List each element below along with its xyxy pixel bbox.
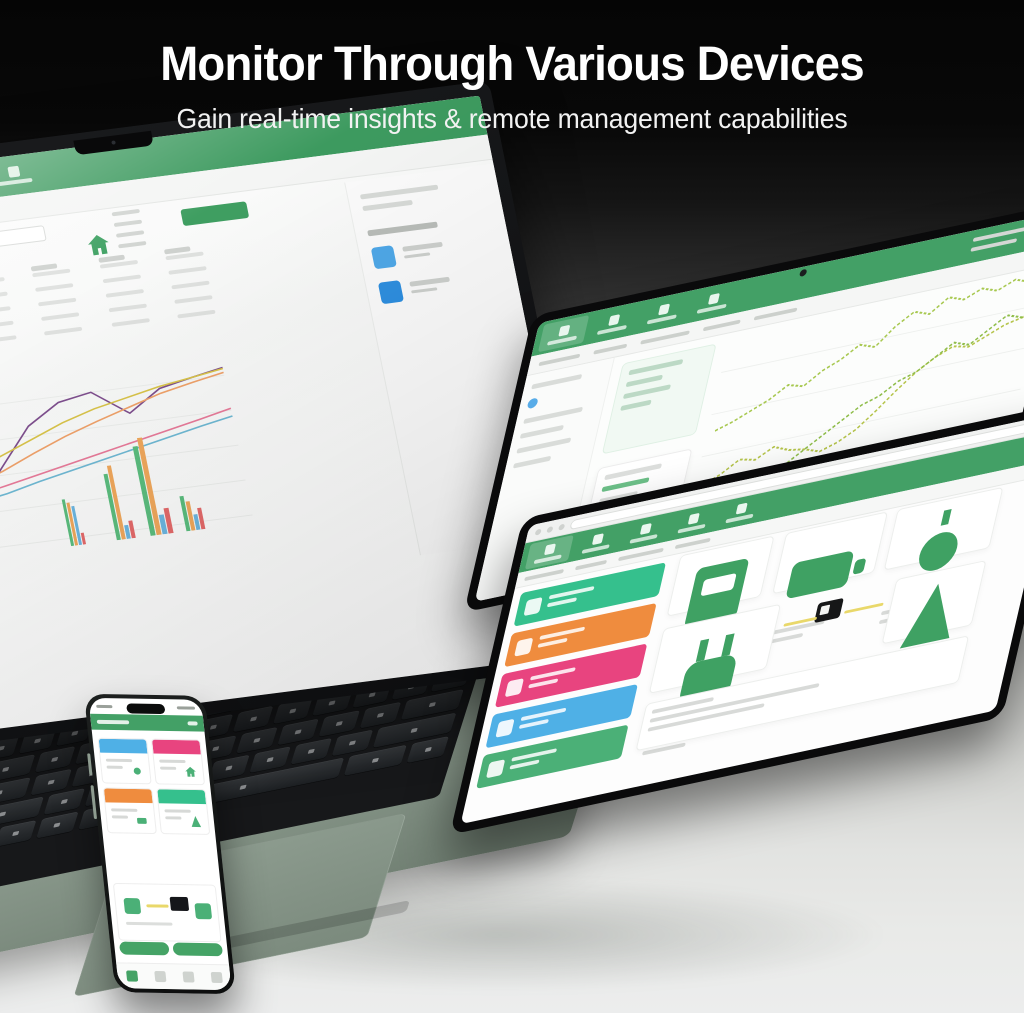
subnav-item[interactable] <box>575 559 607 570</box>
tab-user-icon[interactable] <box>210 972 222 983</box>
tab-home-icon[interactable] <box>126 970 138 981</box>
tablet-back-card-summary <box>602 343 717 454</box>
kpi-text <box>527 667 576 692</box>
kpi-text <box>546 586 595 611</box>
grid-icon <box>558 324 570 336</box>
app-title <box>97 720 130 725</box>
phone-app-header[interactable] <box>90 714 204 732</box>
meta-line <box>116 230 145 237</box>
details-button[interactable] <box>119 942 170 956</box>
sun-icon <box>514 638 533 657</box>
tab-bell-icon[interactable] <box>182 971 194 982</box>
nav-label <box>647 314 677 324</box>
data-column <box>98 252 158 337</box>
cell <box>174 295 212 304</box>
data-column <box>31 261 91 346</box>
page-title: Monitor Through Various Devices <box>26 40 999 91</box>
list-icon <box>658 303 670 315</box>
home-icon <box>83 231 114 260</box>
chart-icon <box>640 523 652 535</box>
kpi-text <box>537 627 586 652</box>
cell <box>103 275 141 284</box>
panel-header <box>360 179 488 211</box>
grid-icon <box>188 815 204 829</box>
tile-label <box>106 759 133 762</box>
tile-value <box>165 816 181 819</box>
phone-tile-generation[interactable] <box>98 738 152 785</box>
subnav-item[interactable] <box>675 537 711 548</box>
kpi-text <box>518 708 567 733</box>
cell <box>35 283 73 292</box>
nav-label <box>582 544 610 554</box>
subnav-item[interactable] <box>593 343 627 354</box>
payment-row[interactable] <box>378 267 507 304</box>
text-line <box>626 375 664 388</box>
tile-value <box>107 766 123 769</box>
home-icon <box>183 765 199 779</box>
payment-value <box>409 277 452 298</box>
cell <box>0 306 11 315</box>
text-line <box>126 922 173 926</box>
cell <box>109 304 147 313</box>
hero-text-block: Monitor Through Various Devices Gain rea… <box>0 0 1024 135</box>
battery-icon <box>135 814 151 828</box>
status-time <box>96 704 112 707</box>
forward-icon[interactable] <box>546 526 553 533</box>
panel-title <box>367 222 438 237</box>
cell <box>111 318 149 327</box>
cell <box>0 321 14 330</box>
meta-line <box>118 241 147 248</box>
subnav-item[interactable] <box>539 353 581 366</box>
text-line <box>604 463 662 480</box>
nav-label <box>630 533 658 543</box>
sidebar-item[interactable] <box>513 456 551 469</box>
wallet-icon <box>378 280 404 304</box>
subnav-item[interactable] <box>754 307 798 320</box>
nav-label <box>725 513 753 523</box>
data-column <box>164 244 224 329</box>
text-line <box>360 185 438 200</box>
sidebar-item[interactable] <box>516 437 571 453</box>
alert-icon <box>505 678 524 697</box>
cell <box>41 312 79 321</box>
subnav-item[interactable] <box>640 330 690 344</box>
text-line <box>362 200 413 211</box>
phone-tile-battery[interactable] <box>103 787 157 834</box>
search-input[interactable] <box>0 225 47 250</box>
nav-label <box>677 523 705 533</box>
status-dot-icon <box>527 397 539 409</box>
data-column <box>0 269 25 354</box>
tile-label <box>164 809 191 812</box>
cell <box>177 310 215 319</box>
phone-action-buttons <box>119 942 223 957</box>
inverter-icon <box>123 898 141 914</box>
tile-label <box>111 808 138 811</box>
dynamic-island-icon <box>126 703 165 714</box>
sidebar-item[interactable] <box>523 407 583 424</box>
phone-tab-bar[interactable] <box>116 962 232 990</box>
cell <box>106 289 144 298</box>
cell <box>171 281 209 290</box>
tile-band <box>152 740 201 755</box>
phone-tile-consumption[interactable] <box>151 739 205 786</box>
cell <box>38 298 76 307</box>
tab-chart-icon[interactable] <box>154 971 166 982</box>
menu-icon[interactable] <box>187 721 197 725</box>
meta-line <box>114 220 143 227</box>
gear-icon <box>7 166 20 178</box>
nav-label <box>697 303 727 313</box>
subnav-item[interactable] <box>703 319 741 331</box>
text-line <box>628 359 683 375</box>
nav-label <box>0 178 33 186</box>
tile-label <box>159 760 186 763</box>
meta-line <box>111 209 140 216</box>
subnav-item[interactable] <box>618 547 664 561</box>
text-line-highlight <box>601 477 649 492</box>
hero-banner: Monitor Through Various Devices Gain rea… <box>0 0 1024 1013</box>
export-button[interactable] <box>180 201 249 226</box>
key-arrow-cluster[interactable] <box>407 736 449 763</box>
nav-item-settings[interactable] <box>0 155 43 195</box>
text-line <box>402 242 443 252</box>
subnav-item[interactable] <box>524 568 564 580</box>
nav-label <box>597 324 627 334</box>
text-line <box>409 277 450 287</box>
meter-icon <box>170 897 190 911</box>
sliders-icon <box>688 512 700 524</box>
gauge-icon <box>486 759 505 778</box>
text-line <box>620 400 652 411</box>
cell <box>0 277 5 286</box>
device-icon <box>495 719 514 738</box>
device-icon <box>592 533 604 545</box>
reload-icon[interactable] <box>558 523 565 530</box>
payment-row[interactable] <box>371 232 500 269</box>
tile-band <box>104 788 153 803</box>
sidebar-item[interactable] <box>531 374 582 390</box>
home-icon <box>544 543 556 555</box>
phone-tile-grid <box>98 738 211 835</box>
grid-icon <box>194 903 212 919</box>
control-button[interactable] <box>172 942 223 956</box>
phone-tile-grid[interactable] <box>156 788 210 835</box>
cell <box>44 327 82 336</box>
nav-label <box>534 554 562 564</box>
payment-value <box>402 242 445 263</box>
text-line <box>623 384 671 399</box>
back-icon[interactable] <box>535 528 542 535</box>
text-line <box>411 287 437 293</box>
key-control[interactable] <box>0 820 37 847</box>
power-icon <box>523 597 542 616</box>
monitor-icon <box>608 314 620 326</box>
cell <box>0 335 17 344</box>
nav-label <box>547 335 577 345</box>
cell <box>0 292 8 301</box>
meta-list <box>111 209 148 255</box>
connection-wire <box>146 904 168 907</box>
laptop-bar-chart <box>43 420 224 547</box>
cell <box>168 266 206 275</box>
user-icon <box>736 502 748 514</box>
card-icon <box>371 245 397 269</box>
status-icons <box>177 706 195 709</box>
kpi-text <box>508 748 557 773</box>
tile-value <box>160 767 176 770</box>
text-line <box>404 252 430 258</box>
tile-value <box>112 815 128 818</box>
tile-band <box>99 739 148 754</box>
solar-icon <box>129 764 145 778</box>
key-option[interactable] <box>36 812 78 839</box>
phone-device-diagram <box>113 883 222 942</box>
tile-band <box>157 789 206 804</box>
sidebar-item[interactable] <box>520 425 564 439</box>
user-icon <box>708 292 720 304</box>
page-subtitle: Gain real-time insights & remote managem… <box>26 103 999 135</box>
